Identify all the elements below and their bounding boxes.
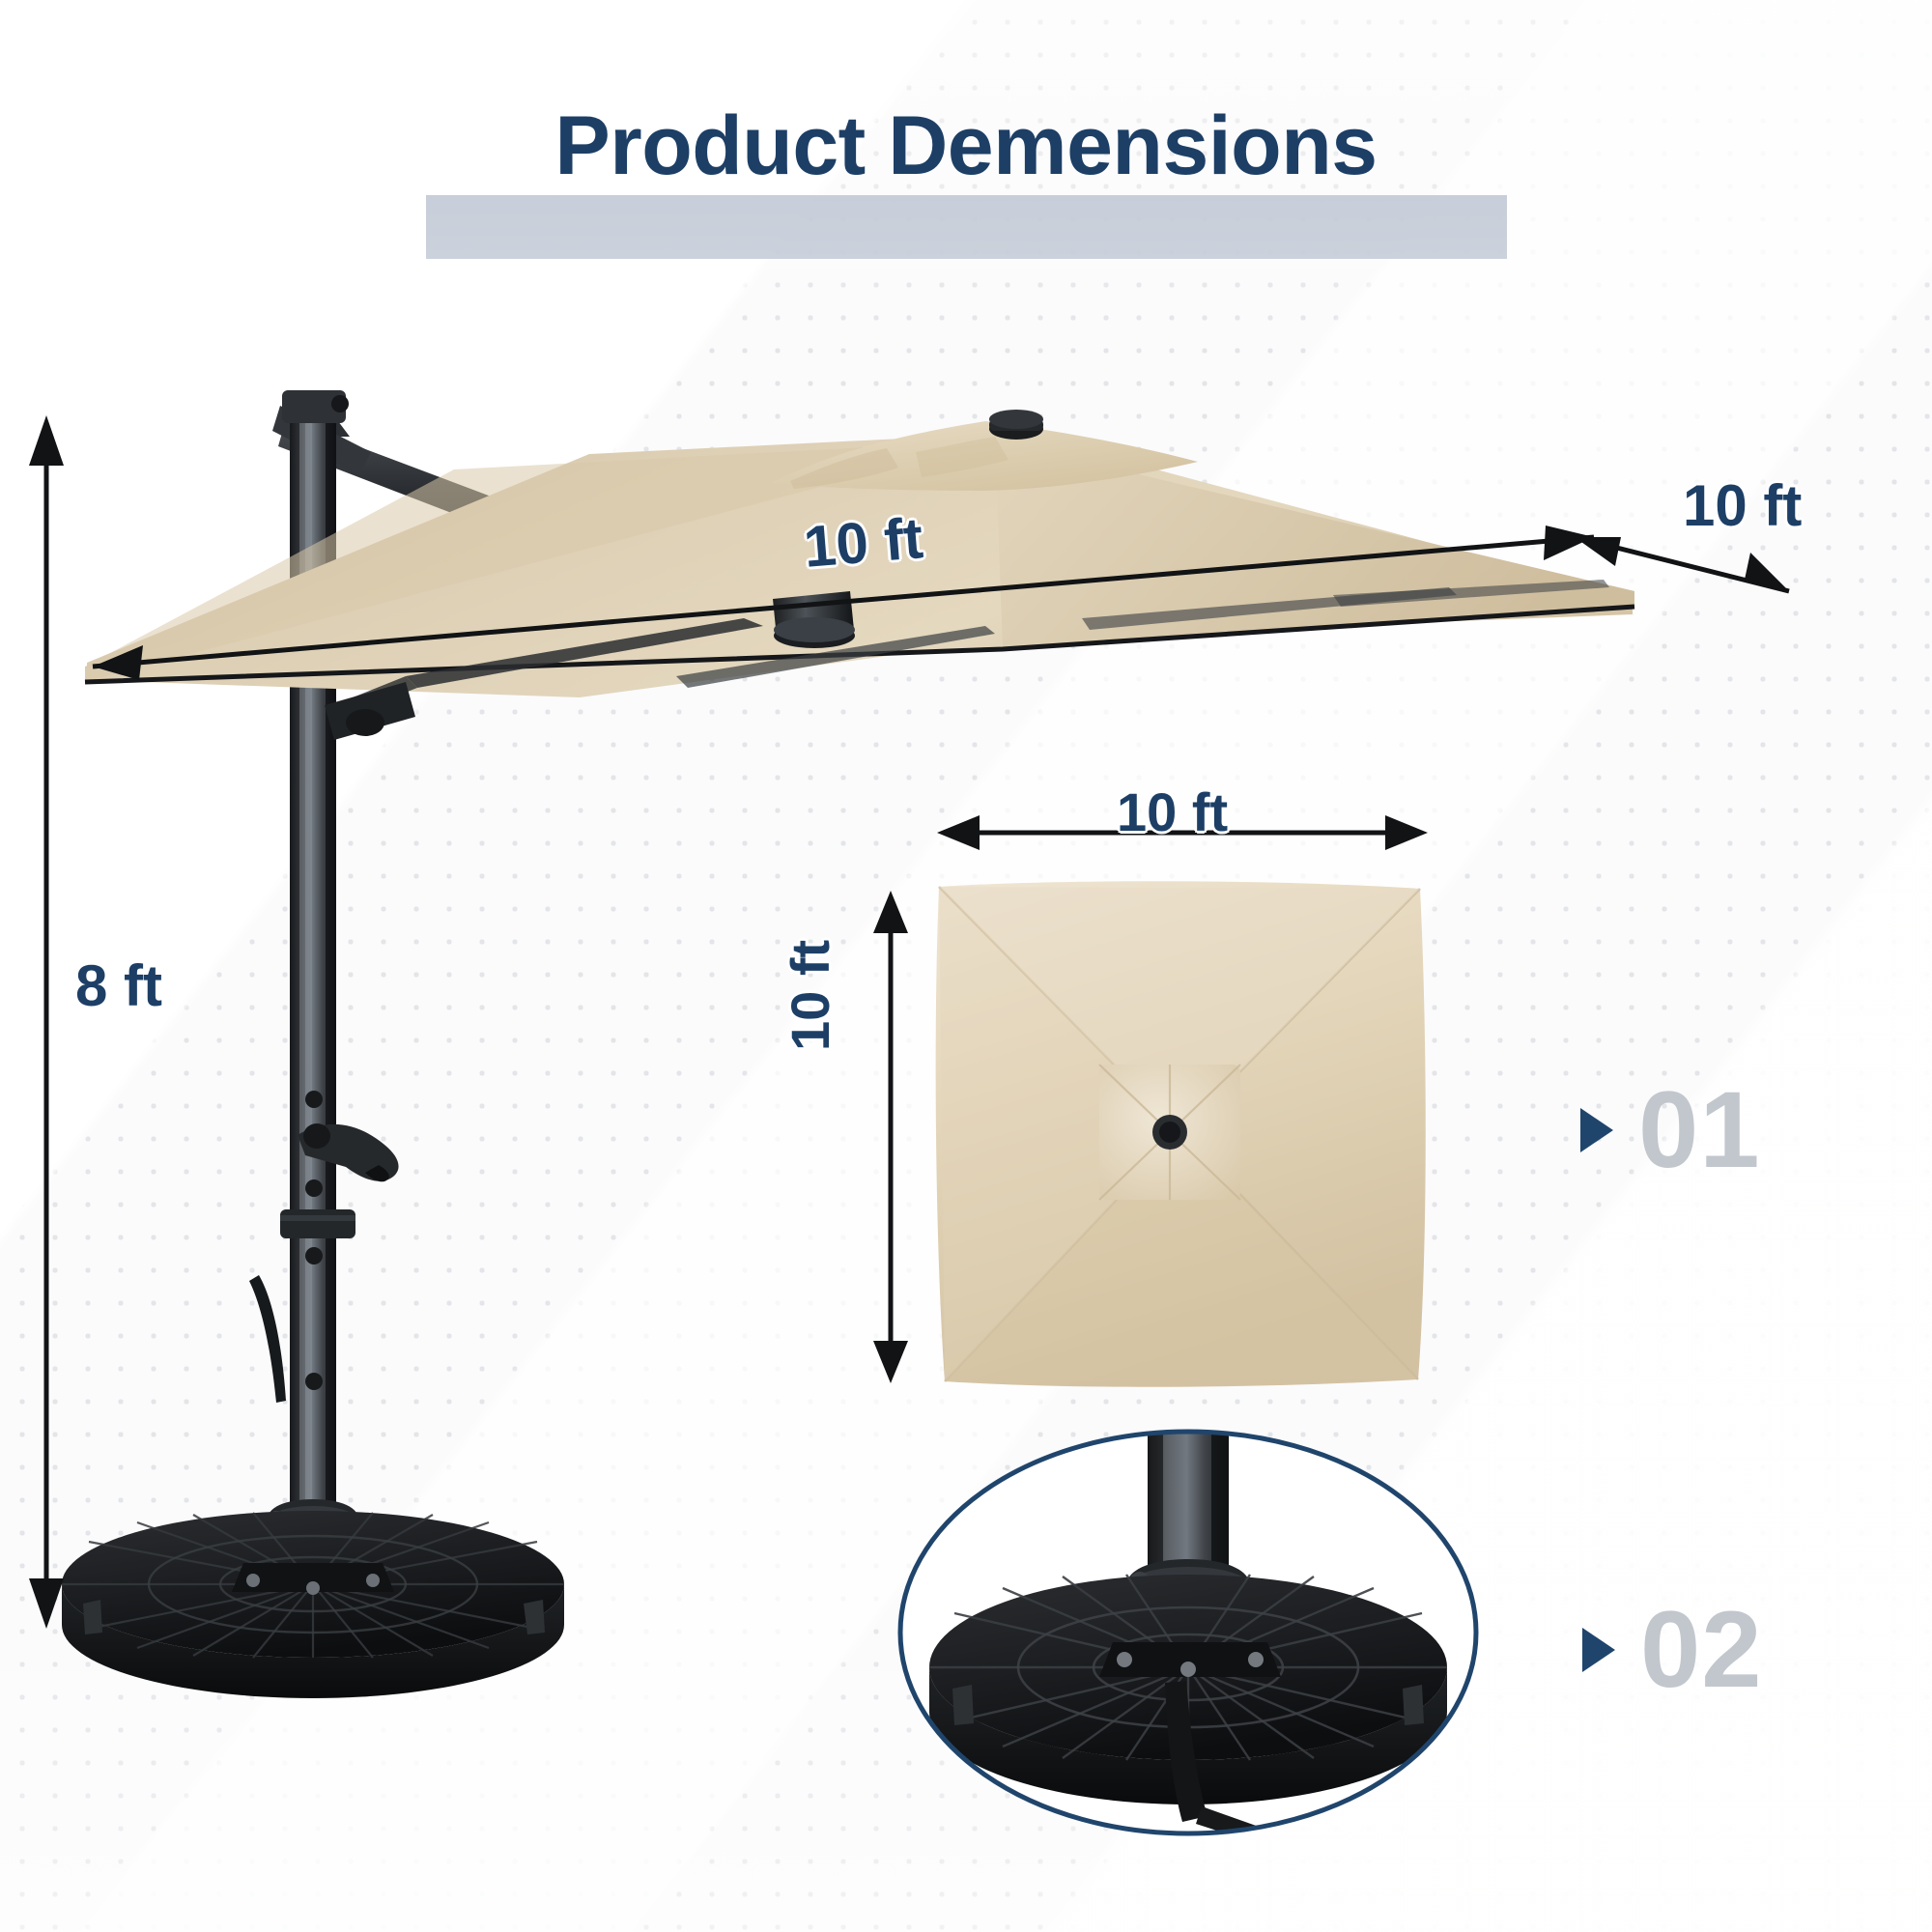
marker-triangle-icon — [1582, 1628, 1615, 1672]
title-highlight-bar — [426, 195, 1507, 259]
marker-triangle-icon — [1580, 1108, 1613, 1152]
title-block: Product Demensions — [0, 93, 1932, 209]
page-title: Product Demensions — [0, 93, 1932, 199]
dimension-label-canopy-depth: 10 ft — [1683, 472, 1802, 539]
dimension-label-canopy-width: 10 ft — [801, 504, 925, 581]
marker-02-number: 02 — [1640, 1596, 1763, 1704]
infographic-canvas: Product Demensions — [0, 0, 1932, 1932]
dimension-label-overall-height: 8 ft — [75, 952, 162, 1019]
marker-01[interactable]: 01 — [1580, 1076, 1761, 1184]
dimension-label-top-depth: 10 ft — [779, 940, 841, 1051]
marker-01-number: 01 — [1638, 1076, 1761, 1184]
dimension-label-top-width: 10 ft — [1117, 781, 1228, 843]
marker-02[interactable]: 02 — [1582, 1596, 1763, 1704]
